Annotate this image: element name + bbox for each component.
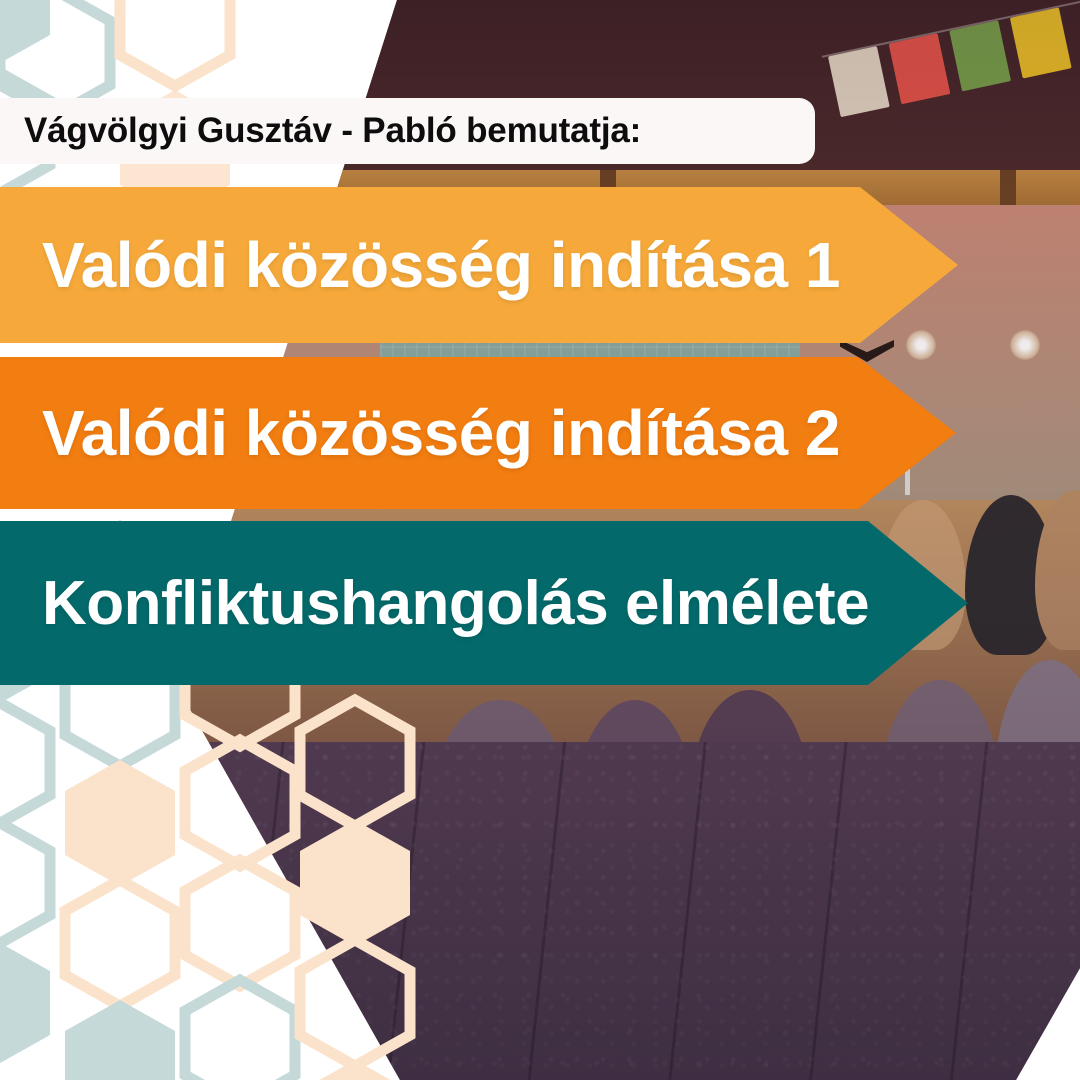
topic-arrow-3[interactable]: Konfliktushangolás elmélete <box>0 521 968 685</box>
presenter-banner-text: Vágvölgyi Gusztáv - Pabló bemutatja: <box>24 111 641 151</box>
topic-arrow-1[interactable]: Valódi közösség indítása 1 <box>0 187 958 343</box>
topic-arrow-2-label: Valódi közösség indítása 2 <box>42 396 840 470</box>
topic-arrow-1-label: Valódi közösség indítása 1 <box>42 228 840 302</box>
topic-arrow-2[interactable]: Valódi közösség indítása 2 <box>0 357 956 509</box>
poster-canvas: Vágvölgyi Gusztáv - Pabló bemutatja: Val… <box>0 0 1080 1080</box>
presenter-banner: Vágvölgyi Gusztáv - Pabló bemutatja: <box>0 98 815 164</box>
topic-arrow-3-label: Konfliktushangolás elmélete <box>42 568 869 639</box>
